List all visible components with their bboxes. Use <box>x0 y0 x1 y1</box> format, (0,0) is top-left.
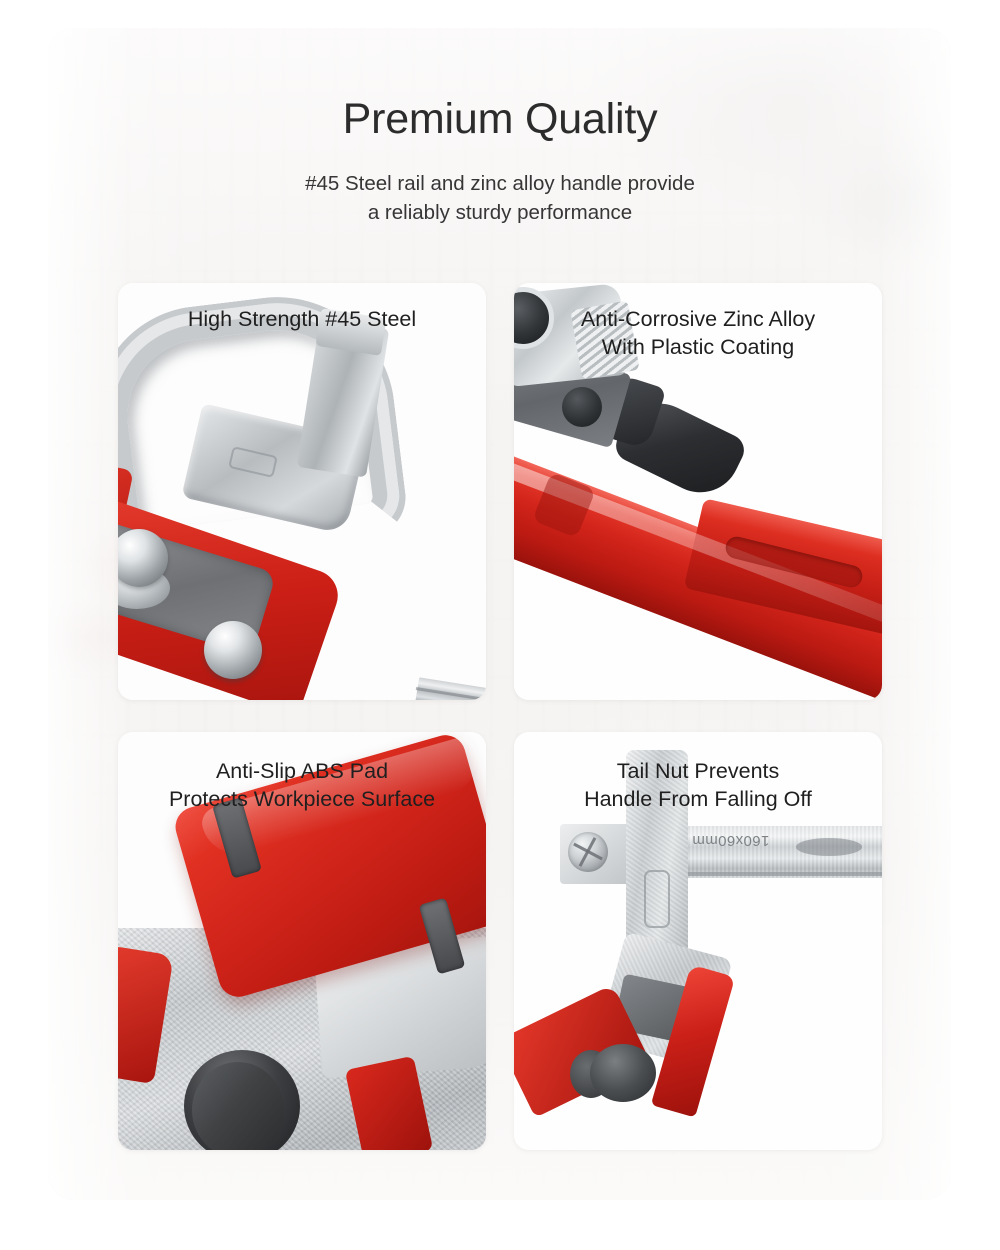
feature-card-tail-nut: Tail Nut Prevents Handle From Falling Of… <box>514 732 882 1150</box>
feature-card-anti-slip-abs-pad: Anti-Slip ABS Pad Protects Workpiece Sur… <box>118 732 486 1150</box>
feature-card-title-line-2: Protects Workpiece Surface <box>126 786 478 814</box>
feature-card-title-line-1: Tail Nut Prevents <box>522 758 874 786</box>
pivot-bolt <box>590 1044 656 1102</box>
dark-cylinder-face <box>192 1062 284 1150</box>
subtitle-line-2: a reliably sturdy performance <box>0 198 1000 227</box>
feature-card-title: Tail Nut Prevents Handle From Falling Of… <box>514 732 882 814</box>
feature-card-title-line-1: High Strength #45 Steel <box>126 306 478 334</box>
feature-card-title-line-1: Anti-Slip ABS Pad <box>126 758 478 786</box>
page-title: Premium Quality <box>0 98 1000 141</box>
header: Premium Quality #45 Steel rail and zinc … <box>0 0 1000 227</box>
feature-card-title: High Strength #45 Steel <box>118 283 486 334</box>
rail-stamp-oval-mark <box>796 838 862 856</box>
rail-size-stamp: 160x60mm <box>692 832 769 849</box>
chrome-rivet-lower <box>204 621 262 679</box>
feature-card-title-line-2: With Plastic Coating <box>522 334 874 362</box>
feature-card-title-line-2: Handle From Falling Off <box>522 786 874 814</box>
feature-card-title: Anti-Slip ABS Pad Protects Workpiece Sur… <box>118 732 486 814</box>
feature-card-title-line-1: Anti-Corrosive Zinc Alloy <box>522 306 874 334</box>
pivot-pin-small <box>562 387 602 427</box>
subtitle-line-1: #45 Steel rail and zinc alloy handle pro… <box>0 169 1000 198</box>
page-subtitle: #45 Steel rail and zinc alloy handle pro… <box>0 169 1000 227</box>
clamp-arm-slot <box>644 870 670 928</box>
feature-card-anti-corrosive-zinc-alloy: Anti-Corrosive Zinc Alloy With Plastic C… <box>514 283 882 700</box>
feature-card-title: Anti-Corrosive Zinc Alloy With Plastic C… <box>514 283 882 362</box>
steel-clamp-jaw-photo <box>118 283 486 700</box>
feature-card-high-strength-steel: High Strength #45 Steel <box>118 283 486 700</box>
